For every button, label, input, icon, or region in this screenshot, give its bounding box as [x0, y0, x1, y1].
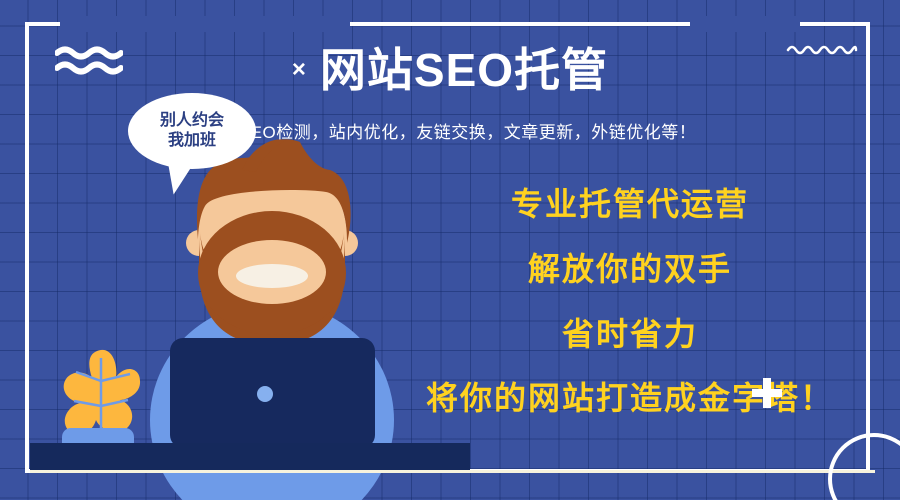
illustration: 别人约会 我加班 — [0, 0, 430, 500]
laptop-logo-icon — [257, 386, 273, 402]
person-laptop-illustration — [0, 0, 430, 500]
slogan-line-3: 省时省力 — [390, 316, 870, 353]
poster-canvas: × 网站SEO托管 含：SEO检测，站内优化，友链交换，文章更新，外链优化等！ … — [0, 0, 900, 500]
plus-icon — [752, 378, 782, 408]
speech-bubble-line-1: 别人约会 — [160, 111, 224, 131]
slogan-line-4: 将你的网站打造成金字塔！ — [390, 380, 870, 417]
speech-bubble-line-2: 我加班 — [168, 131, 216, 151]
slogan-list: 专业托管代运营 解放你的双手 省时省力 将你的网站打造成金字塔！ — [390, 186, 870, 417]
desk-surface — [30, 443, 470, 473]
person-mouth — [236, 264, 308, 288]
slogan-line-1: 专业托管代运营 — [390, 186, 870, 223]
slogan-line-2: 解放你的双手 — [390, 251, 870, 288]
desk-edge-line — [30, 470, 875, 473]
potted-plant-icon — [62, 350, 140, 458]
frame-gap-right — [690, 16, 800, 32]
speech-bubble: 别人约会 我加班 — [128, 93, 256, 169]
